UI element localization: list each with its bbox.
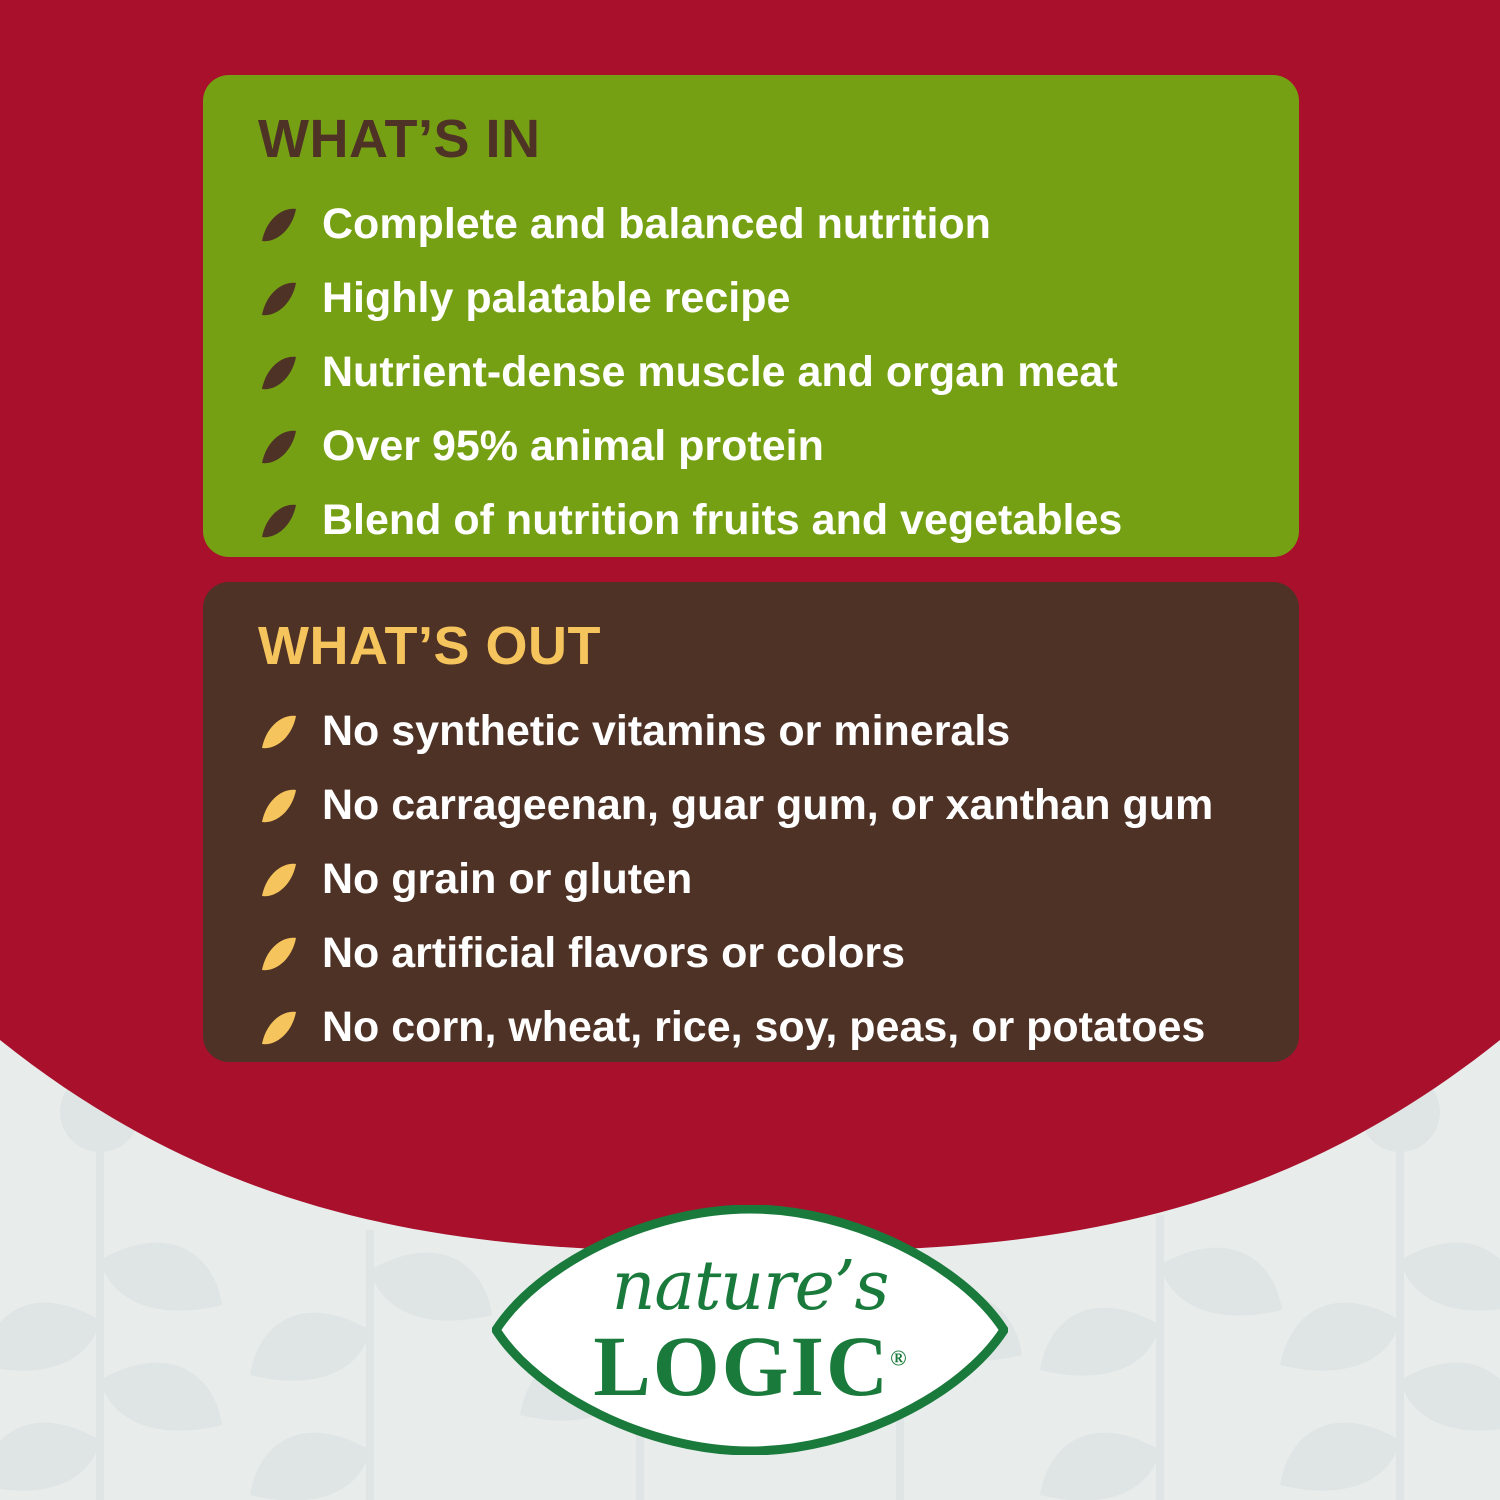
logo-block-word: LOGIC® [492, 1323, 1008, 1409]
leaf-icon [258, 500, 300, 542]
list-item-label: No carrageenan, guar gum, or xanthan gum [322, 781, 1213, 829]
whats-out-list: No synthetic vitamins or minerals No car… [258, 697, 1259, 1061]
list-item-label: Complete and balanced nutrition [322, 200, 991, 248]
list-item-label: No grain or gluten [322, 855, 692, 903]
list-item-label: No corn, wheat, rice, soy, peas, or pota… [322, 1003, 1205, 1051]
leaf-icon [258, 352, 300, 394]
list-item: Highly palatable recipe [258, 264, 1259, 332]
leaf-icon [258, 426, 300, 468]
whats-in-panel: WHAT’S IN Complete and balanced nutritio… [203, 75, 1299, 557]
registered-trademark-icon: ® [890, 1345, 906, 1370]
list-item-label: Blend of nutrition fruits and vegetables [322, 496, 1122, 544]
list-item: Over 95% animal protein [258, 412, 1259, 480]
list-item: Blend of nutrition fruits and vegetables [258, 486, 1259, 554]
list-item: Complete and balanced nutrition [258, 190, 1259, 258]
logo-script-word: nature’s [492, 1253, 1008, 1321]
list-item: Nutrient-dense muscle and organ meat [258, 338, 1259, 406]
brand-logo: nature’s LOGIC® [492, 1205, 1008, 1455]
list-item: No artificial flavors or colors [258, 919, 1259, 987]
whats-in-heading: WHAT’S IN [258, 111, 1259, 168]
leaf-icon [258, 859, 300, 901]
whats-out-heading: WHAT’S OUT [258, 618, 1259, 675]
leaf-icon [258, 278, 300, 320]
leaf-icon [258, 785, 300, 827]
leaf-icon [258, 711, 300, 753]
leaf-icon [258, 1007, 300, 1049]
list-item-label: Nutrient-dense muscle and organ meat [322, 348, 1118, 396]
list-item: No corn, wheat, rice, soy, peas, or pota… [258, 993, 1259, 1061]
product-infographic: WHAT’S IN Complete and balanced nutritio… [0, 0, 1500, 1500]
list-item-label: Over 95% animal protein [322, 422, 824, 470]
list-item-label: No artificial flavors or colors [322, 929, 905, 977]
leaf-icon [258, 204, 300, 246]
whats-in-list: Complete and balanced nutrition Highly p… [258, 190, 1259, 554]
list-item: No synthetic vitamins or minerals [258, 697, 1259, 765]
list-item-label: No synthetic vitamins or minerals [322, 707, 1010, 755]
whats-out-panel: WHAT’S OUT No synthetic vitamins or mine… [203, 582, 1299, 1062]
list-item: No carrageenan, guar gum, or xanthan gum [258, 771, 1259, 839]
leaf-icon [258, 933, 300, 975]
logo-block-word-text: LOGIC [593, 1318, 890, 1414]
list-item-label: Highly palatable recipe [322, 274, 790, 322]
list-item: No grain or gluten [258, 845, 1259, 913]
